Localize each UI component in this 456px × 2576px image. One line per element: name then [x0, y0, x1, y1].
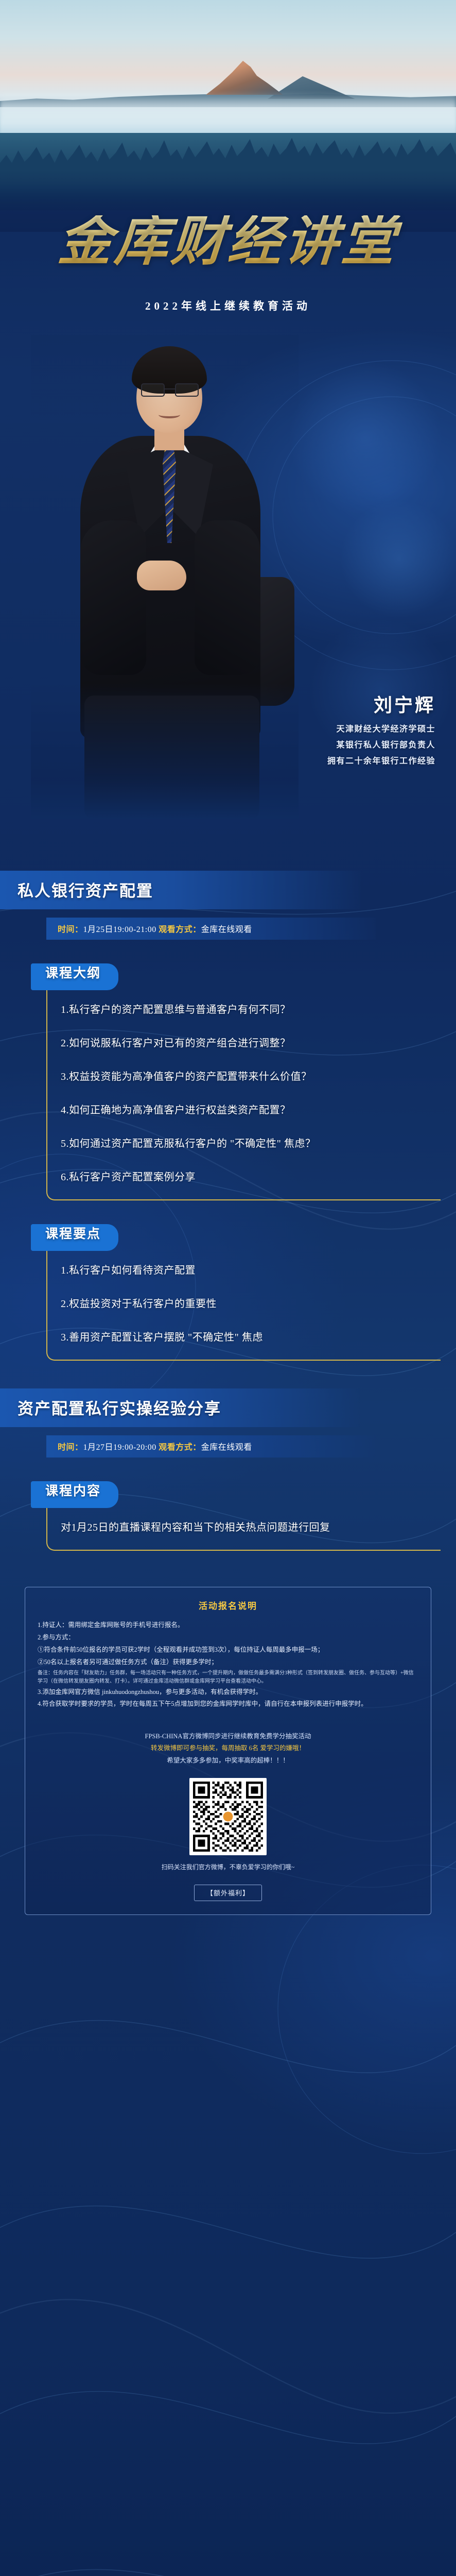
page-subtitle: 2022年线上继续教育活动 [0, 298, 456, 313]
bokeh-circle-1 [288, 361, 443, 515]
list-item: 2.权益投资对于私行客户的重要性 [61, 1297, 435, 1312]
points-heading-label: 课程要点 [45, 1227, 101, 1241]
bonus-badge: 【额外福利】 [194, 1885, 262, 1901]
list-item: 对1月25日的直播课程内容和当下的相关热点问题进行回复 [61, 1520, 435, 1535]
section-spacer [0, 1361, 456, 1388]
time-label: 时间： [58, 1443, 83, 1452]
course-content-list: 对1月25日的直播课程内容和当下的相关热点问题进行回复 [46, 1508, 441, 1551]
poster-root: 金库财经讲堂 2022年线上继续教育活动 刘宁辉 [0, 0, 456, 2576]
course-section-2: 资产配置私行实操经验分享 时间：1月27日19:00-20:00 观看方式：金库… [0, 1388, 456, 1551]
registration-promo: FPSB-CHINA官方微博同步进行继续教育免费学分抽奖活动 转发微博即可参与抽… [38, 1731, 418, 1766]
course-section-1: 私人银行资产配置 时间：1月25日19:00-21:00 观看方式：金库在线观看… [0, 871, 456, 1361]
content-heading-label: 课程内容 [45, 1484, 101, 1498]
watch-label: 观看方式： [159, 925, 201, 934]
outline-heading: 课程大纲 [31, 963, 118, 990]
course-1-schedule: 时间：1月25日19:00-21:00 观看方式：金库在线观看 [46, 918, 376, 940]
promo-line: 希望大家多多参加，中奖率高的超棒！！！ [38, 1755, 418, 1767]
outline-heading-label: 课程大纲 [45, 967, 101, 980]
list-item: 3.善用资产配置让客户摆脱 "不确定性" 焦虑 [61, 1330, 435, 1345]
registration-card: 活动报名说明 1.持证人：需用绑定金库网账号的手机号进行报名。 2.参与方式： … [25, 1587, 431, 1915]
course-2-schedule: 时间：1月27日19:00-20:00 观看方式：金库在线观看 [46, 1435, 376, 1458]
photo-fade-overlay [31, 335, 299, 819]
qr-code[interactable] [189, 1778, 267, 1855]
qr-code-icon [193, 1782, 263, 1852]
course-points-list: 1.私行客户如何看待资产配置 2.权益投资对于私行客户的重要性 3.善用资产配置… [46, 1251, 441, 1361]
bokeh-circle-2 [340, 500, 456, 618]
list-item: 4.如何正确地为高净值客户进行权益类资产配置？ [61, 1103, 435, 1118]
registration-line: ②50名以上报名者另可通过做任务方式（备注）获得更多学时； [38, 1657, 418, 1668]
speaker-name: 刘宁辉 [374, 690, 435, 717]
time-label: 时间： [58, 925, 83, 934]
content-heading: 课程内容 [31, 1481, 118, 1508]
course-2-title: 资产配置私行实操经验分享 [0, 1388, 360, 1427]
list-item: 1.私行客户如何看待资产配置 [61, 1263, 435, 1278]
course-outline-list: 1.私行客户的资产配置思维与普通客户有何不同？ 2.如何说服私行客户对已有的资产… [46, 990, 441, 1200]
time-value: 1月27日19:00-20:00 [83, 1443, 156, 1452]
time-value: 1月25日19:00-21:00 [83, 925, 156, 934]
watch-label: 观看方式： [159, 1443, 201, 1452]
list-item: 5.如何通过资产配置克服私行客户的 "不确定性" 焦虑？ [61, 1137, 435, 1151]
speaker-bio: 天津财经大学经济学硕士 某银行私人银行部负责人 拥有二十余年银行工作经验 [327, 721, 435, 770]
registration-fine-print: 备注：任务内容在「财友助力」任务群，每一场活动只有一种任务方式，一个提升期内，做… [38, 1669, 418, 1686]
registration-line: 4.符合获取学时要求的学员，学时在每周五下午5点增加到您的金库网学时库中，请自行… [38, 1699, 418, 1710]
watch-value: 金库在线观看 [201, 1443, 252, 1452]
registration-line: ①符合条件前50位报名的学员可获2学时（全程观看并成功签到3次），每位持证人每周… [38, 1645, 418, 1656]
list-item: 1.私行客户的资产配置思维与普通客户有何不同？ [61, 1003, 435, 1018]
watch-value: 金库在线观看 [201, 925, 252, 934]
registration-separator [38, 1711, 418, 1720]
registration-line: 3.添加金库网官方微信 jinkuhuodongzhushou，参与更多活动，有… [38, 1687, 418, 1698]
promo-line: FPSB-CHINA官方微博同步进行继续教育免费学分抽奖活动 [38, 1731, 418, 1742]
registration-line: 2.参与方式： [38, 1632, 418, 1643]
registration-line: 1.持证人：需用绑定金库网账号的手机号进行报名。 [38, 1620, 418, 1631]
speaker-section: 刘宁辉 天津财经大学经济学硕士 某银行私人银行部负责人 拥有二十余年银行工作经验 [0, 330, 456, 871]
speaker-bio-line: 某银行私人银行部负责人 [327, 737, 435, 753]
bottom-padding [0, 1915, 456, 1939]
promo-line: 转发微博即可参与抽奖，每周抽取 6名 爱学习的嫌哦！ [38, 1742, 418, 1754]
qr-code-container[interactable] [38, 1778, 418, 1855]
speaker-bio-line: 拥有二十余年银行工作经验 [327, 753, 435, 769]
course-1-title: 私人银行资产配置 [0, 871, 360, 909]
qr-caption: 扫码关注我们官方微博，不辜负爱学习的你们哦~ [38, 1862, 418, 1871]
list-item: 6.私行客户资产配置案例分享 [61, 1170, 435, 1185]
speaker-photo [31, 335, 299, 819]
registration-title: 活动报名说明 [38, 1599, 418, 1612]
list-item: 3.权益投资能为高净值客户的资产配置带来什么价值？ [61, 1070, 435, 1084]
speaker-bio-line: 天津财经大学经济学硕士 [327, 721, 435, 737]
points-heading: 课程要点 [31, 1224, 118, 1251]
hero-banner: 金库财经讲堂 2022年线上继续教育活动 [0, 0, 456, 330]
registration-section: 活动报名说明 1.持证人：需用绑定金库网账号的手机号进行报名。 2.参与方式： … [25, 1587, 431, 1915]
list-item: 2.如何说服私行客户对已有的资产组合进行调整？ [61, 1036, 435, 1051]
page-title: 金库财经讲堂 [0, 215, 456, 269]
